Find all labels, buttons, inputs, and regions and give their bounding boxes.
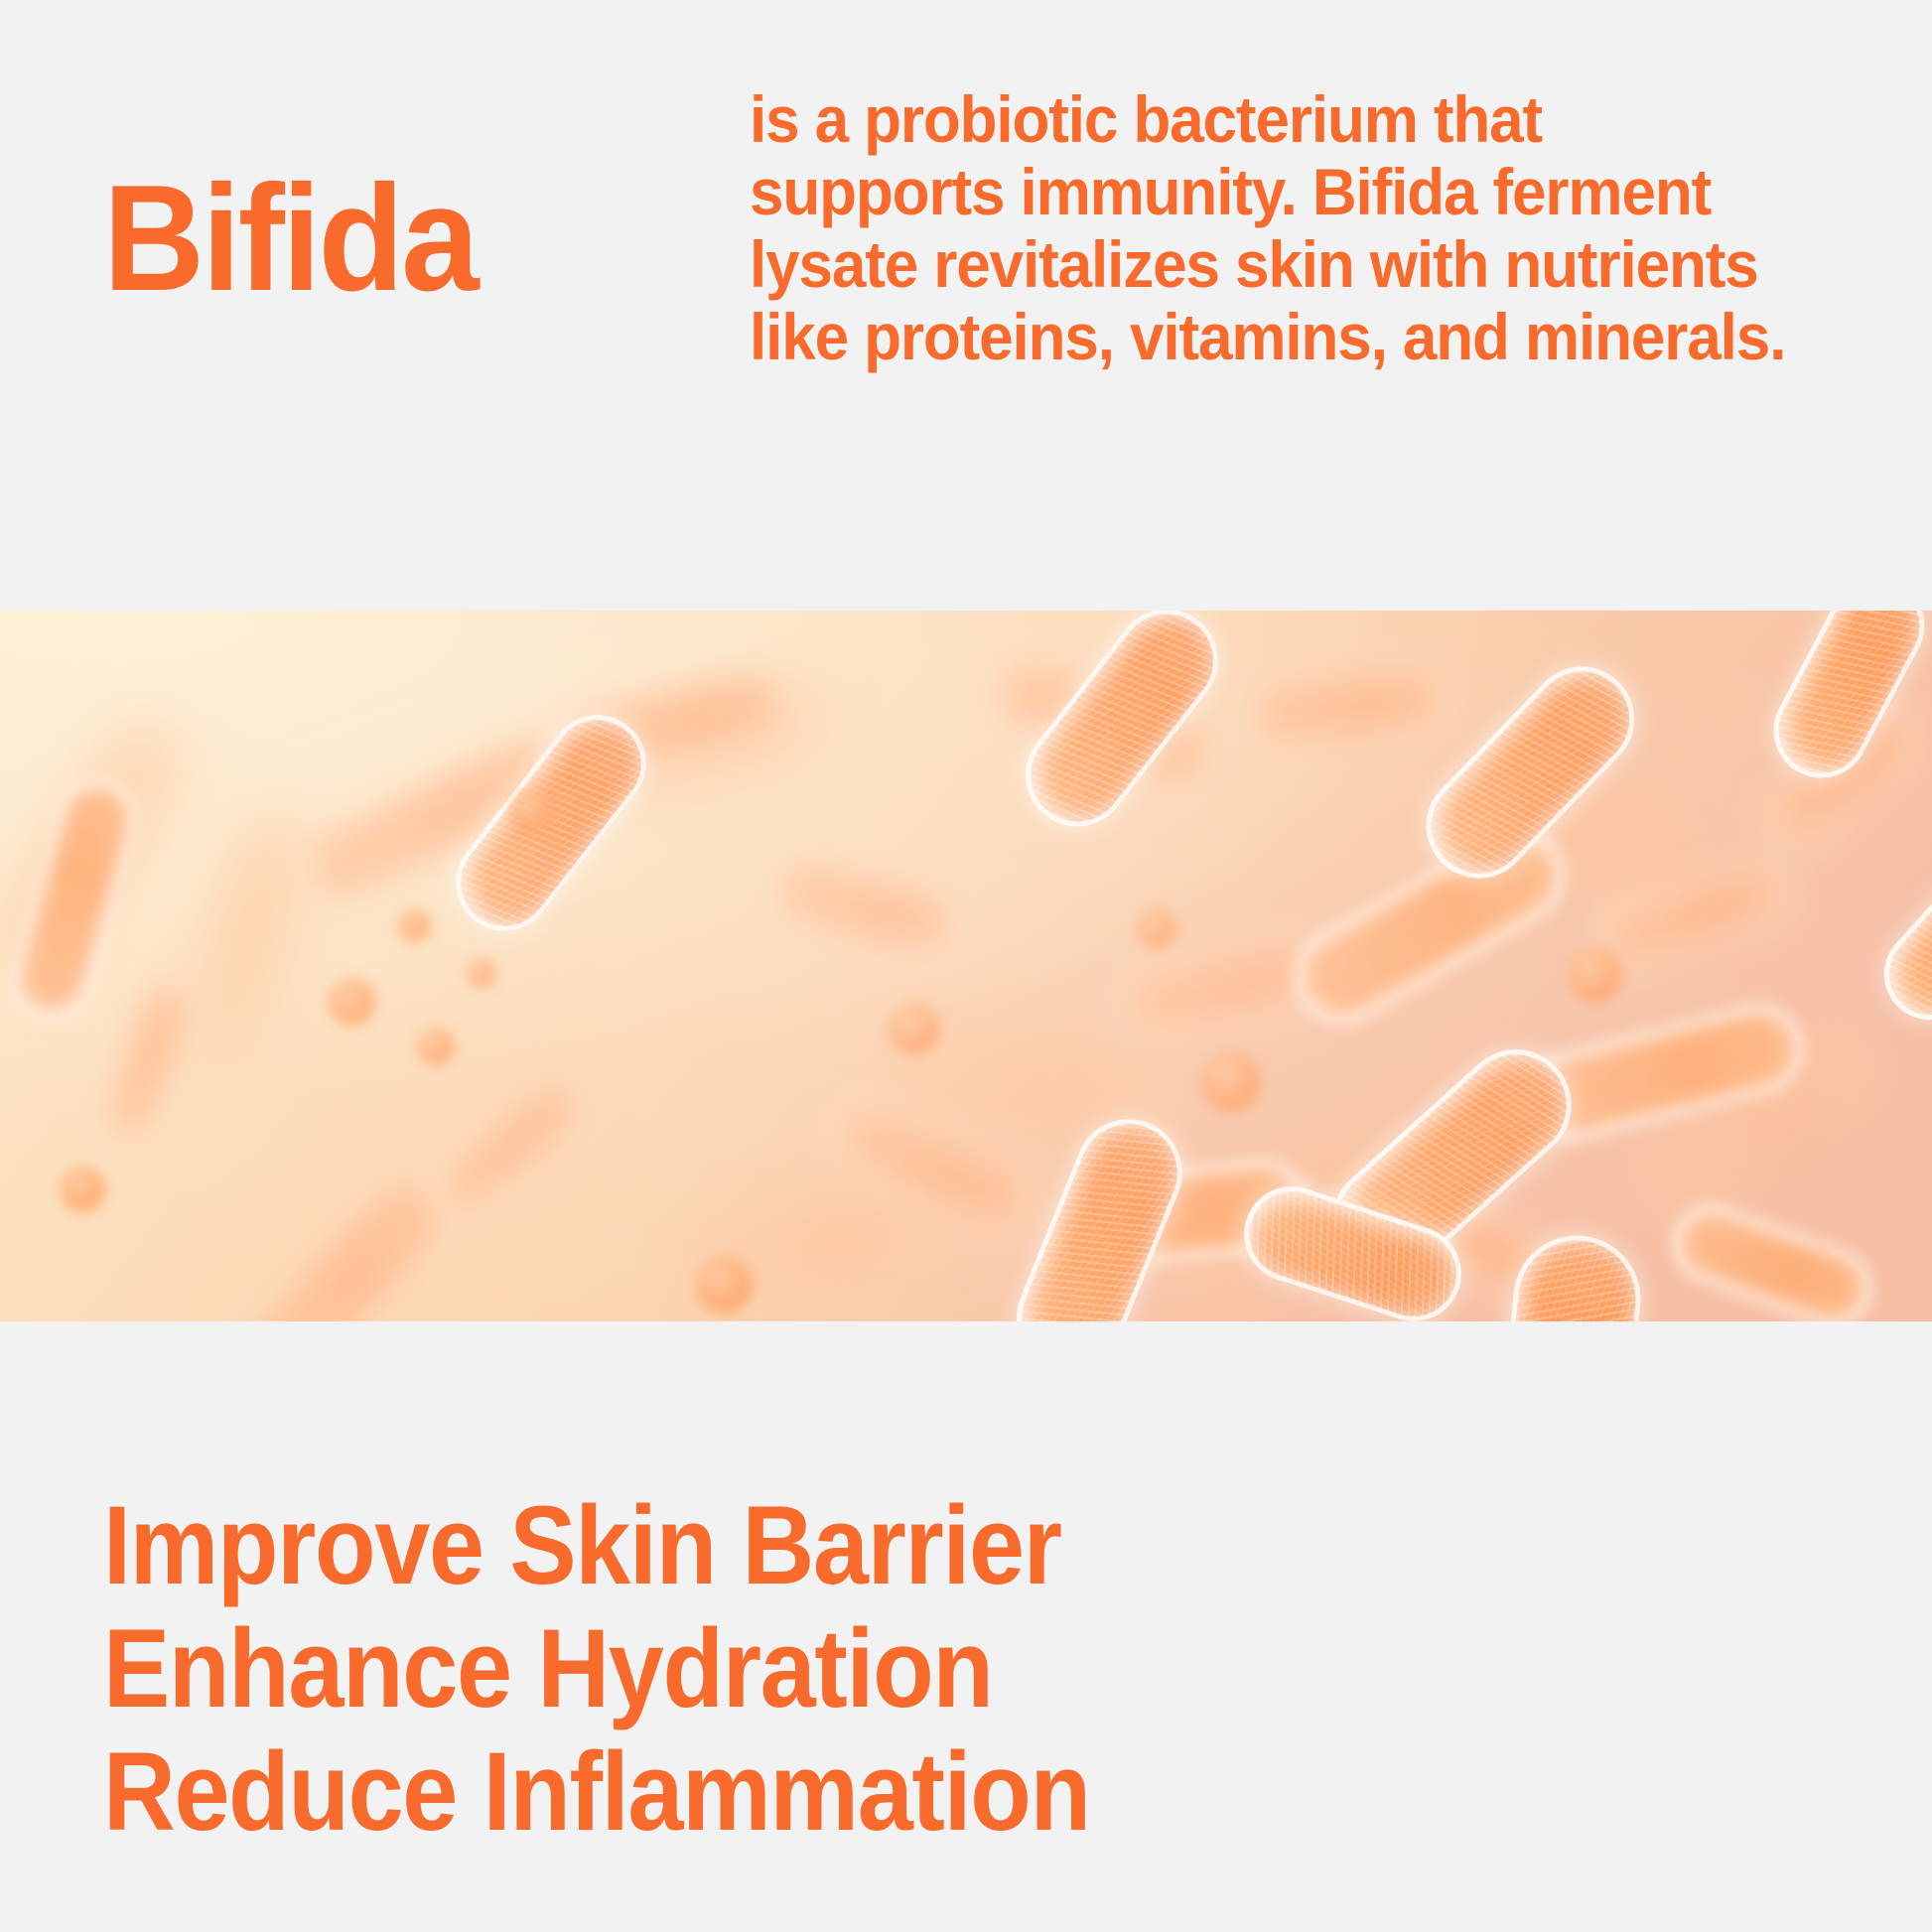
description-line: supports immunity. Bifida ferment <box>750 156 1795 228</box>
bacteria-dot <box>1137 908 1176 948</box>
benefit-item: Reduce Inflammation <box>103 1730 1090 1854</box>
bacteria-rod <box>1661 1193 1884 1321</box>
bacteria-rod <box>1238 657 1458 757</box>
bacteria-rod <box>758 842 975 974</box>
bacteria-dot <box>328 978 375 1026</box>
ingredient-infographic: Bifida is a probiotic bacterium that sup… <box>0 0 1932 1932</box>
bacteria-dot <box>1569 948 1622 1002</box>
header-section: Bifida is a probiotic bacterium that sup… <box>0 0 1932 611</box>
bacteria-dot <box>417 1028 455 1065</box>
bacteria-rod <box>417 1059 605 1232</box>
benefit-item: Improve Skin Barrier <box>103 1484 1090 1607</box>
bacteria-dot <box>1201 1052 1261 1112</box>
bacteria-rod <box>1865 830 1932 1038</box>
bacteria-dot <box>397 908 431 942</box>
page-title: Bifida <box>103 163 477 314</box>
description-line: lysate revitalizes skin with nutrients <box>750 228 1795 301</box>
bacteria-dot <box>695 1256 753 1313</box>
bacteria-rod <box>87 965 210 1156</box>
benefits-section: Improve Skin Barrier Enhance Hydration R… <box>0 1321 1932 1932</box>
benefit-item: Enhance Hydration <box>103 1607 1090 1730</box>
bacteria-dot <box>511 789 555 833</box>
bacteria-dot <box>889 1003 940 1054</box>
benefits-list: Improve Skin Barrier Enhance Hydration R… <box>103 1484 1090 1854</box>
description-line: is a probiotic bacterium that <box>750 83 1795 156</box>
bacteria-image <box>0 611 1932 1321</box>
bacteria-dot <box>467 958 496 988</box>
bacteria-dot <box>60 1167 105 1212</box>
description-line: like proteins, vitamins, and minerals. <box>750 301 1795 373</box>
ingredient-description: is a probiotic bacterium that supports i… <box>750 83 1795 373</box>
